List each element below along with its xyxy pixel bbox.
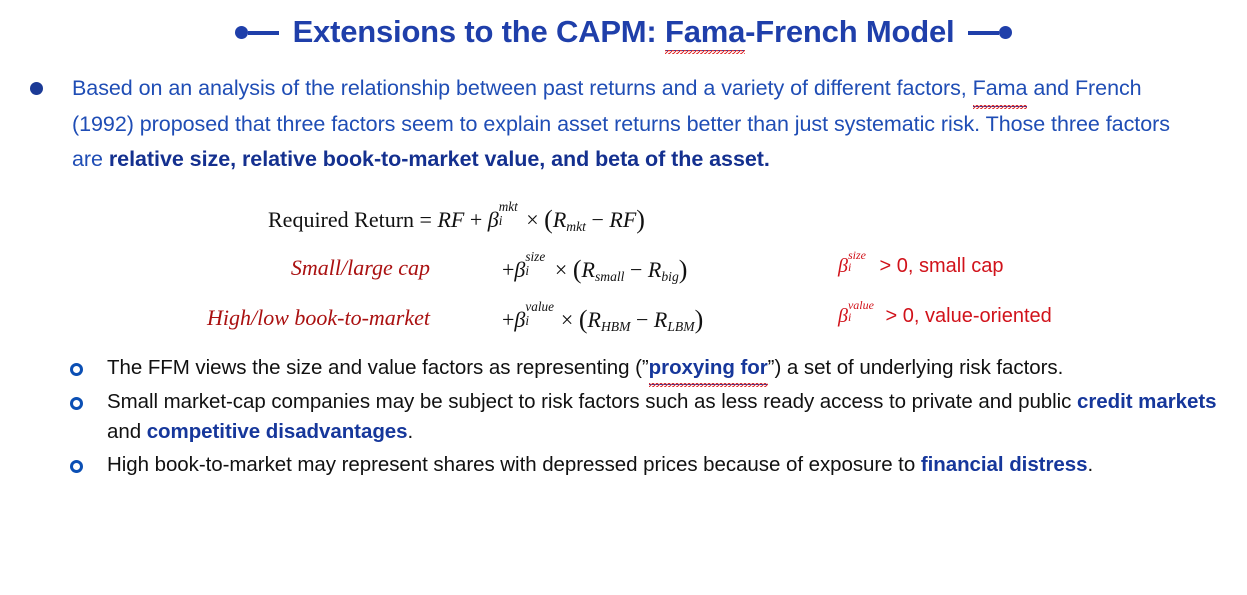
eq1-times: × <box>526 207 538 232</box>
eq3-r1-subscript: HBM <box>601 319 631 334</box>
title-text-after: -French Model <box>745 14 954 49</box>
sub-bullet-list: The FFM views the size and value factors… <box>70 353 1230 480</box>
eq2-beta-term: βsizei <box>514 257 525 283</box>
intro-bold-phrase: relative size, relative book-to-market v… <box>109 147 770 171</box>
sub2-part-3: . <box>408 420 414 443</box>
eq3-r2: R <box>654 307 667 332</box>
eq2-plus: + <box>502 257 514 282</box>
eq1-r2: RF <box>609 207 636 232</box>
eq1-plus: + <box>470 207 482 232</box>
eq2-r2-subscript: big <box>661 269 678 284</box>
eq1-r1-subscript: mkt <box>566 219 586 234</box>
title-fama-word: Fama <box>665 14 745 51</box>
list-item: Small market-cap companies may be subjec… <box>70 387 1230 448</box>
eq2-r1-subscript: small <box>595 269 625 284</box>
eq1-close-paren: ) <box>636 205 645 234</box>
sub3-part-2: . <box>1087 453 1093 476</box>
equation-row-2-note: βsizei > 0, small cap <box>838 255 1003 278</box>
eq2-note-text: > 0, small cap <box>880 255 1004 277</box>
intro-bullet-item: Based on an analysis of the relationship… <box>30 71 1195 177</box>
eq1-equals: = <box>420 207 432 232</box>
sub2-part-2: and <box>107 420 147 443</box>
slide-title: Extensions to the CAPM: Fama-French Mode… <box>0 14 1247 51</box>
sub1-part-2: ”) a set of underlying risk factors. <box>768 356 1064 379</box>
bullet-ring-icon <box>70 460 83 473</box>
eq2-note-beta: β <box>838 255 848 277</box>
eq3-close-paren: ) <box>695 305 704 334</box>
equation-block: Required Return = RF + βmkti × (Rmkt − R… <box>0 205 1247 345</box>
equation-row-3-expression: +βvaluei × (RHBM − RLBM) <box>502 305 703 335</box>
eq2-minus: − <box>630 257 642 282</box>
eq3-beta: β <box>514 307 525 332</box>
eq3-times: × <box>561 307 573 332</box>
list-item: High book-to-market may represent shares… <box>70 450 1230 481</box>
bullet-ring-icon <box>70 363 83 376</box>
eq3-beta-term: βvaluei <box>514 307 525 333</box>
eq2-times: × <box>555 257 567 282</box>
sub2-part-1: Small market-cap companies may be subjec… <box>107 390 1077 413</box>
bullet-ring-icon <box>70 397 83 410</box>
list-item: The FFM views the size and value factors… <box>70 353 1230 385</box>
eq3-beta-superscript: value <box>525 299 554 315</box>
eq2-r2: R <box>648 257 661 282</box>
page-title: Extensions to the CAPM: Fama-French Mode… <box>293 14 955 51</box>
eq2-note-subscript: i <box>848 260 851 275</box>
intro-part-1: Based on an analysis of the relationship… <box>72 76 973 100</box>
eq1-beta-term: βmkti <box>488 207 499 233</box>
eq3-note-text: > 0, value-oriented <box>886 305 1052 327</box>
bullet-dot-icon <box>30 82 43 95</box>
eq2-close-paren: ) <box>679 255 688 284</box>
sub2-bold-1: credit markets <box>1077 390 1216 413</box>
equation-row-1-expression: Required Return = RF + βmkti × (Rmkt − R… <box>268 205 645 235</box>
sub2-bold-2: competitive disadvantages <box>147 420 408 443</box>
eq3-r1: R <box>587 307 600 332</box>
title-left-ornament-icon <box>235 25 279 41</box>
sub-bullet-text: The FFM views the size and value factors… <box>107 353 1063 385</box>
eq3-note-beta: β <box>838 305 848 327</box>
eq2-beta: β <box>514 257 525 282</box>
eq1-beta-subscript: i <box>499 213 503 229</box>
eq3-beta-subscript: i <box>525 313 529 329</box>
eq1-lhs: Required Return <box>268 207 414 232</box>
eq2-note-beta-term: βsizei <box>838 255 848 278</box>
eq3-note-beta-term: βvaluei <box>838 305 848 328</box>
eq3-plus: + <box>502 307 514 332</box>
sub1-part-1: The FFM views the size and value factors… <box>107 356 649 379</box>
equation-row-2-label: Small/large cap <box>120 255 430 281</box>
intro-fama-word: Fama <box>973 71 1028 107</box>
eq1-r1: R <box>553 207 566 232</box>
eq3-note-superscript: value <box>848 298 874 313</box>
eq2-beta-subscript: i <box>525 263 529 279</box>
eq3-minus: − <box>636 307 648 332</box>
title-text-before: Extensions to the CAPM: <box>293 14 665 49</box>
eq1-minus: − <box>591 207 603 232</box>
equation-row-3-note: βvaluei > 0, value-oriented <box>838 305 1052 328</box>
eq1-open-paren: ( <box>544 205 553 234</box>
eq1-beta: β <box>488 207 499 232</box>
intro-bullet-text: Based on an analysis of the relationship… <box>72 71 1195 177</box>
eq3-r2-subscript: LBM <box>667 319 694 334</box>
sub-bullet-text: Small market-cap companies may be subjec… <box>107 387 1230 448</box>
sub-bullet-text: High book-to-market may represent shares… <box>107 450 1093 481</box>
sub3-part-1: High book-to-market may represent shares… <box>107 453 921 476</box>
sub1-bold-1: proxying for <box>649 353 768 385</box>
sub3-bold-1: financial distress <box>921 453 1088 476</box>
title-right-ornament-icon <box>968 25 1012 41</box>
eq3-note-subscript: i <box>848 310 851 325</box>
eq1-rf: RF <box>437 207 464 232</box>
equation-row-3-label: High/low book-to-market <box>80 305 430 331</box>
eq2-r1: R <box>581 257 594 282</box>
equation-row-2-expression: +βsizei × (Rsmall − Rbig) <box>502 255 687 285</box>
